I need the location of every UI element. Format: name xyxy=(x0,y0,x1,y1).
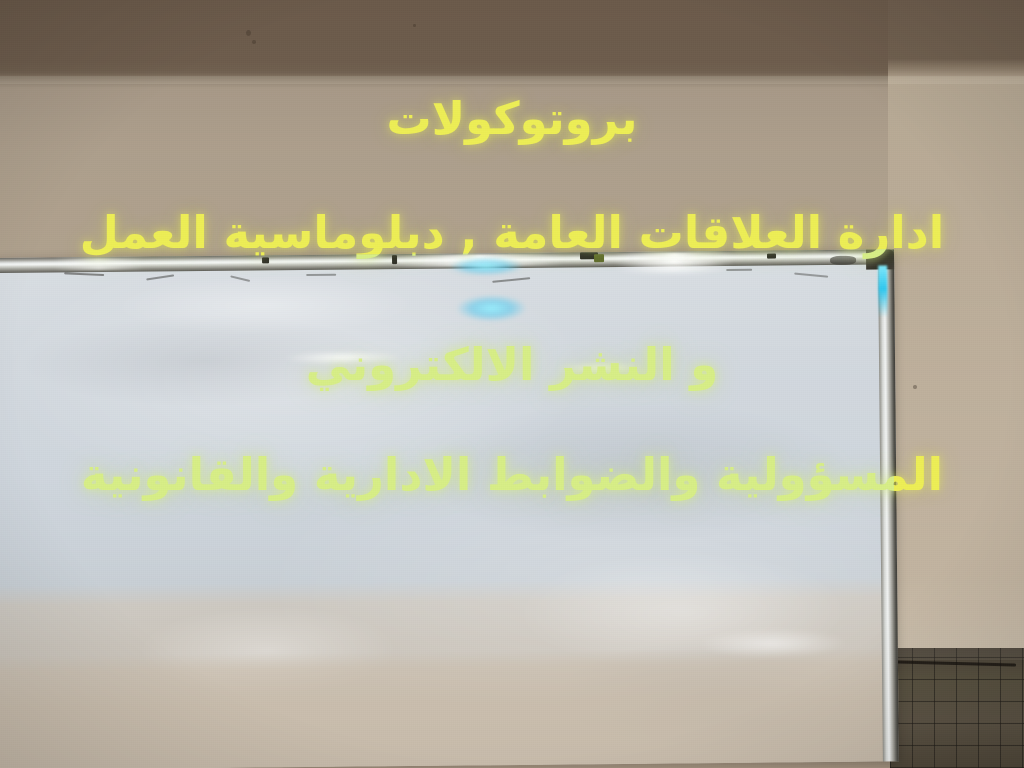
corner-cyan-glare xyxy=(878,265,887,317)
board-marker-residue xyxy=(64,272,104,276)
cyan-specular-glare xyxy=(456,295,526,322)
white-specular-glare xyxy=(698,628,848,659)
whiteboard-smudge xyxy=(425,400,846,544)
white-specular-glare xyxy=(614,259,734,276)
board-marker-residue xyxy=(146,274,174,280)
white-specular-glare xyxy=(555,362,645,375)
frame-scuff-mark xyxy=(594,254,604,262)
cyan-specular-glare xyxy=(449,257,523,276)
board-marker-residue xyxy=(794,273,828,278)
board-marker-residue xyxy=(830,256,856,265)
wall-speck xyxy=(252,40,256,44)
whiteboard xyxy=(0,249,899,768)
wall-plaster-patch xyxy=(888,0,1024,652)
wall-speck xyxy=(913,385,917,389)
projector-beam-top-edge xyxy=(0,70,1024,84)
wall-speck xyxy=(246,30,251,36)
frame-scuff-mark xyxy=(767,253,776,258)
white-specular-glare xyxy=(283,350,403,365)
frame-scuff-mark xyxy=(262,257,269,263)
frame-glare-highlight xyxy=(54,258,144,271)
board-marker-residue xyxy=(230,275,250,282)
board-marker-residue xyxy=(306,274,336,276)
frame-scuff-mark xyxy=(392,255,397,264)
projected-slide-scene: بروتوكولات ادارة العلاقات العامة , دبلوم… xyxy=(0,0,1024,768)
board-marker-residue xyxy=(492,277,530,283)
whiteboard-smudge xyxy=(114,274,415,337)
wall-speck xyxy=(413,24,416,27)
whiteboard-unlit-lower-area xyxy=(0,647,899,768)
